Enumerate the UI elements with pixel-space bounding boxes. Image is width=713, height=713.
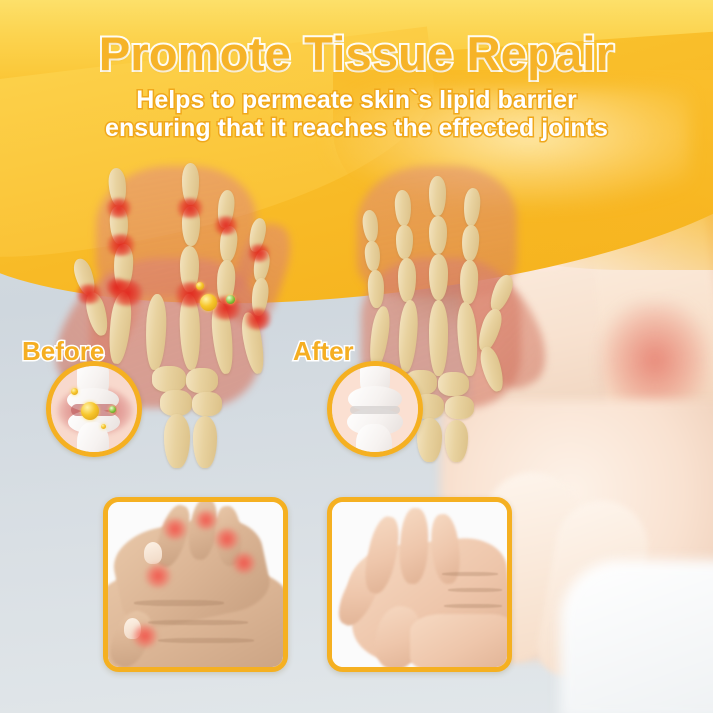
before-photo-inflamed-joint-4 bbox=[232, 552, 256, 574]
subtitle-line-1: Helps to permeate skin`s lipid barrier bbox=[0, 86, 713, 115]
healthy-bone-middle-proximal bbox=[429, 254, 448, 300]
after-photo-panel bbox=[327, 497, 512, 672]
before-photo-nail-1 bbox=[144, 542, 162, 564]
bone-carpal-group-3 bbox=[160, 390, 192, 416]
healthy-bone-carpal-4 bbox=[445, 396, 474, 419]
healthy-bone-ring-proximal bbox=[398, 258, 416, 302]
healthy-bone-pinky-proximal bbox=[367, 270, 384, 309]
healthy-bone-metacarpal-3 bbox=[429, 300, 448, 376]
inset-urate-crystal-side bbox=[71, 388, 78, 395]
urate-crystal-small bbox=[196, 282, 204, 290]
subtitle-line-2: ensuring that it reaches the effected jo… bbox=[0, 114, 713, 143]
before-photo-skin-texture-2 bbox=[148, 620, 248, 625]
inflamed-joint-pinky-pip bbox=[246, 244, 272, 262]
inflamed-joint-middle-pip bbox=[174, 198, 206, 218]
healthy-bone-ring-middle bbox=[396, 225, 413, 259]
inflamed-joint-index-dip bbox=[104, 198, 134, 218]
before-photo-inflamed-joint-6 bbox=[132, 624, 158, 648]
inflamed-joint-index-pip bbox=[104, 234, 138, 256]
inset-urate-crystal-tiny bbox=[101, 424, 106, 429]
healthy-bone-ulna bbox=[445, 420, 468, 462]
background-white-sleeve bbox=[560, 560, 713, 713]
page-title: Promote Tissue Repair bbox=[0, 26, 713, 81]
before-photo-panel bbox=[103, 497, 288, 672]
before-photo-skin-texture-1 bbox=[134, 600, 224, 606]
inflamed-joint-ring-dip bbox=[212, 216, 240, 235]
bone-ulna bbox=[193, 416, 217, 468]
before-joint-inset-circle bbox=[46, 361, 142, 457]
bone-carpal-group-4 bbox=[192, 392, 222, 416]
after-photo-skin-texture-2 bbox=[448, 588, 502, 592]
before-photo-inflamed-joint-5 bbox=[144, 564, 172, 588]
before-photo-inflamed-joint-1 bbox=[162, 518, 188, 540]
inset-urate-crystal-main bbox=[81, 402, 99, 420]
inflamed-joint-pinky-mcp bbox=[242, 308, 274, 330]
after-photo-skin-texture-3 bbox=[444, 604, 502, 608]
bone-carpal-group bbox=[152, 366, 186, 392]
before-photo-inflamed-joint-2 bbox=[194, 510, 218, 530]
healthy-bone-radius bbox=[417, 418, 442, 462]
inset-healthy-bone-lower bbox=[356, 424, 392, 457]
inset-healthy-cartilage bbox=[350, 406, 400, 414]
inset-urate-crystal-green bbox=[109, 406, 116, 413]
urate-crystal-green bbox=[226, 295, 235, 304]
healthy-bone-carpal-2 bbox=[438, 372, 469, 396]
inflamed-joint-thumb-mcp bbox=[104, 278, 130, 296]
before-photo-inflamed-joint-3 bbox=[214, 528, 240, 550]
healthy-bone-middle-middle bbox=[429, 216, 447, 254]
bone-radius bbox=[164, 414, 190, 468]
after-photo-second-hand bbox=[410, 614, 512, 672]
healthy-bone-middle-distal bbox=[429, 176, 446, 216]
bone-carpal-group-2 bbox=[186, 368, 218, 393]
inflamed-joint-thumb-ip bbox=[74, 284, 104, 304]
after-photo-skin-texture-1 bbox=[442, 572, 498, 576]
after-joint-inset-circle bbox=[327, 361, 423, 457]
after-label: After bbox=[293, 336, 354, 367]
before-photo-skin-texture-3 bbox=[158, 638, 254, 643]
urate-crystal-large bbox=[200, 294, 217, 311]
promote-tissue-repair-poster: Promote Tissue Repair Helps to permeate … bbox=[0, 0, 713, 713]
